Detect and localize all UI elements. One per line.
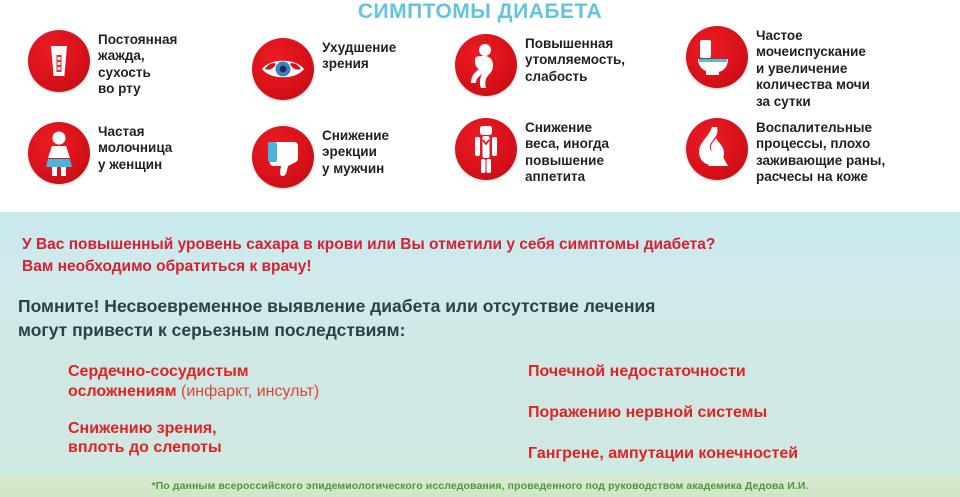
consequence-main: Поражению нервной системы [528, 404, 767, 421]
consequences-column-left: Сердечно-сосудистым осложнениям (инфаркт… [68, 362, 498, 475]
symptom-item-weightloss: Снижение веса, иногда повышение аппетита [455, 118, 680, 186]
panel-subheading: Помните! Несвоевременное выявление диабе… [18, 294, 948, 342]
symptom-item-vision: Ухудшение зрения [252, 38, 452, 100]
symptom-label: Повышенная утомляемость, слабость [525, 34, 625, 85]
thumbs-down-icon [252, 126, 314, 188]
consequence-item: Сердечно-сосудистым осложнениям (инфаркт… [68, 362, 498, 402]
symptom-item-thirst: Постоянная жажда, сухость во рту [28, 30, 238, 98]
symptom-item-erection: Снижение эрекции у мужчин [252, 126, 452, 188]
symptom-label: Ухудшение зрения [322, 38, 396, 73]
eye-icon [252, 38, 314, 100]
symptom-label: Частая молочница у женщин [98, 122, 172, 173]
thin-person-icon [455, 118, 517, 180]
symptom-item-urination: Частое мочеиспускание и увеличение колич… [686, 26, 956, 110]
flame-icon [686, 118, 748, 180]
symptom-label: Снижение эрекции у мужчин [322, 126, 389, 177]
woman-figure-icon [28, 122, 90, 184]
symptom-label: Снижение веса, иногда повышение аппетита [525, 118, 609, 186]
footnote-text: *По данным всероссийского эпидемиологиче… [151, 480, 808, 492]
consequence-item: Поражению нервной системы [528, 403, 948, 423]
symptom-item-thrush: Частая молочница у женщин [28, 122, 238, 184]
panel-headline: У Вас повышенный уровень сахара в крови … [22, 234, 942, 278]
footnote-bar: *По данным всероссийского эпидемиологиче… [0, 475, 960, 497]
consequences-column-right: Почечной недостаточности Поражению нервн… [528, 362, 948, 484]
consequences-list: Сердечно-сосудистым осложнениям (инфаркт… [0, 362, 960, 472]
symptom-label: Воспалительные процессы, плохо заживающи… [756, 118, 885, 186]
symptom-label: Частое мочеиспускание и увеличение колич… [756, 26, 870, 110]
symptom-item-inflammation: Воспалительные процессы, плохо заживающи… [686, 118, 956, 186]
toilet-icon [686, 26, 748, 88]
consequence-item: Снижению зрения, вплоть до слепоты [68, 419, 498, 459]
consequence-main: Снижению зрения, вплоть до слепоты [68, 420, 222, 457]
tired-person-icon [455, 34, 517, 96]
consequence-detail: (инфаркт, инсульт) [177, 383, 320, 400]
warning-panel: У Вас повышенный уровень сахара в крови … [0, 212, 960, 475]
consequence-main: Гангрене, ампутации конечностей [528, 445, 798, 462]
consequence-item: Гангрене, ампутации конечностей [528, 444, 948, 464]
consequence-main: Почечной недостаточности [528, 363, 746, 380]
symptom-label: Постоянная жажда, сухость во рту [98, 30, 177, 98]
consequence-item: Почечной недостаточности [528, 362, 948, 382]
symptoms-grid: Постоянная жажда, сухость во рту Ухудшен… [0, 26, 960, 212]
glass-of-water-icon [28, 30, 90, 92]
symptom-item-fatigue: Повышенная утомляемость, слабость [455, 34, 680, 96]
infographic-page: СИМПТОМЫ ДИАБЕТА Постоянная жажда, сухос… [0, 0, 960, 497]
page-title: СИМПТОМЫ ДИАБЕТА [0, 0, 960, 24]
